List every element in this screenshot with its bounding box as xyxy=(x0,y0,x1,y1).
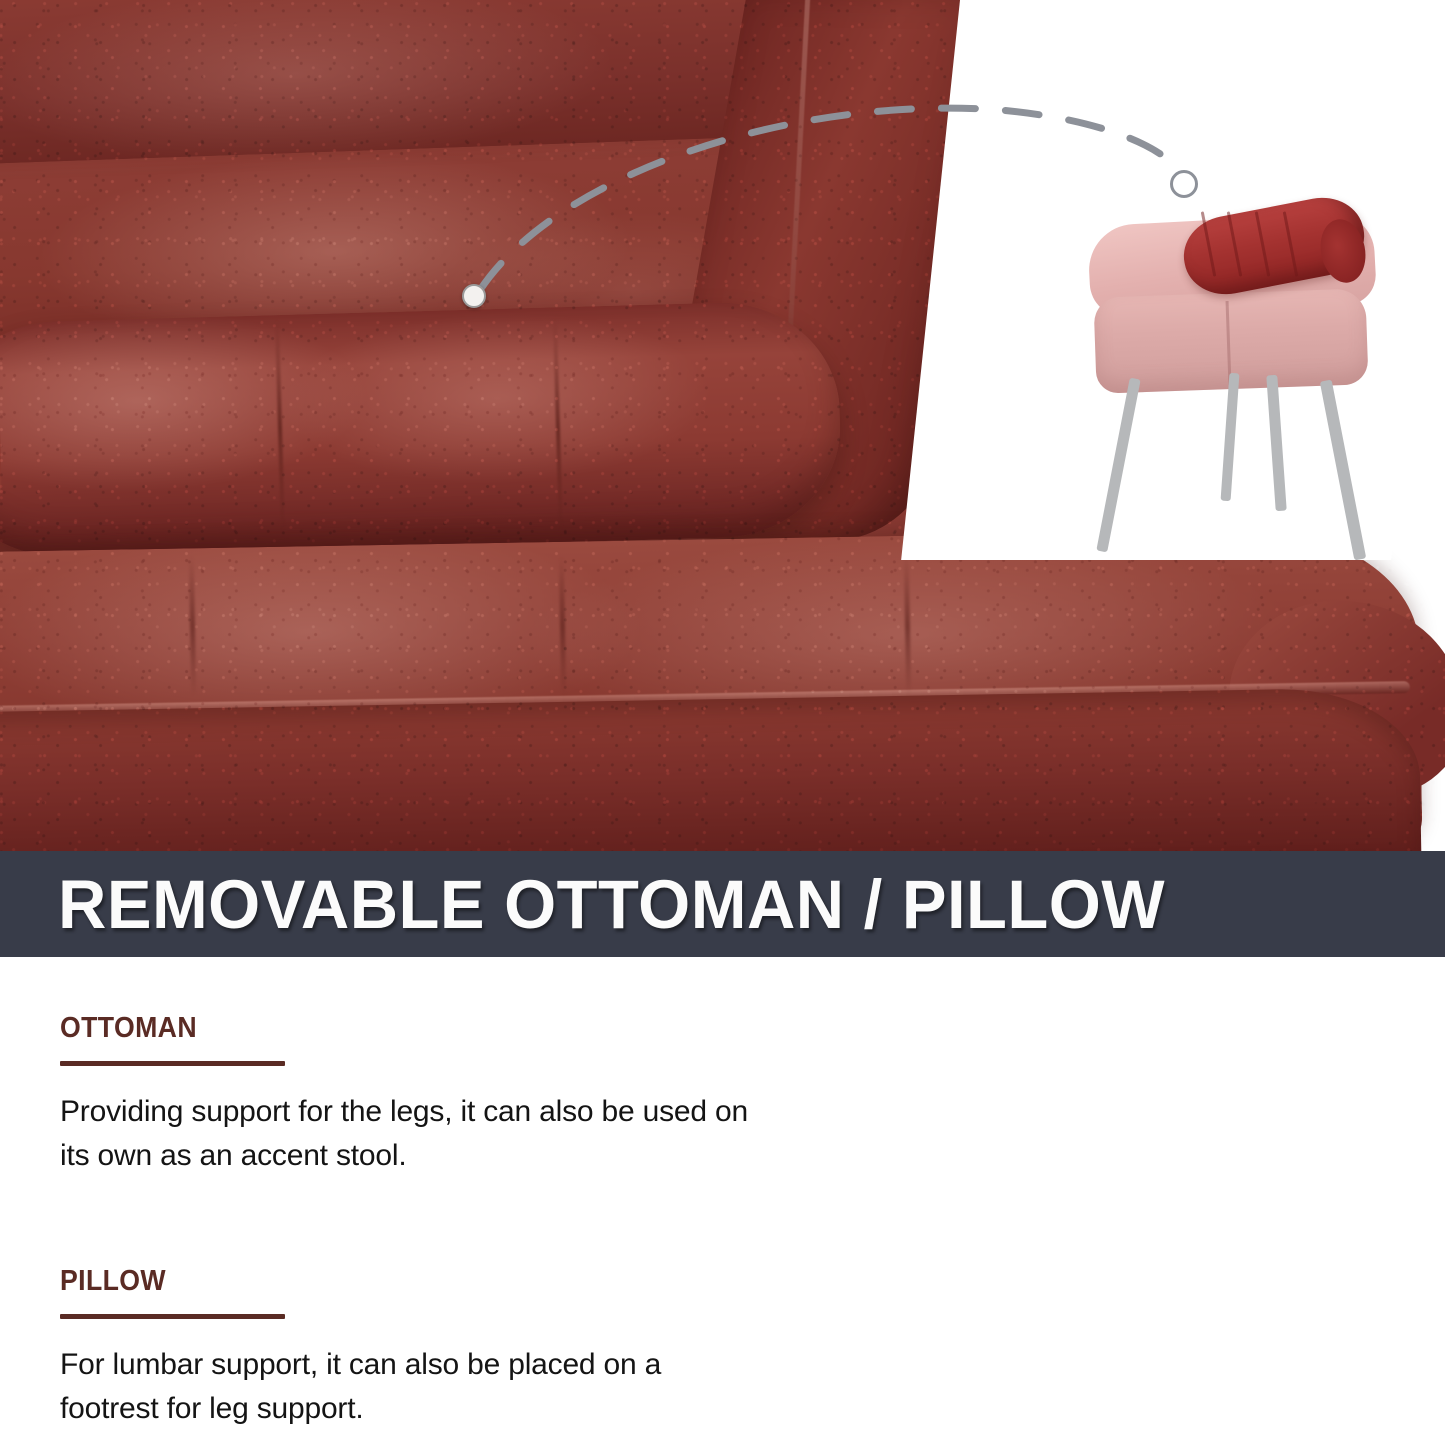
headline-banner: REMOVABLE OTTOMAN / PILLOW xyxy=(0,851,1445,957)
feature-list: OTTOMAN Providing support for the legs, … xyxy=(60,1012,760,1445)
feature-underline xyxy=(60,1314,285,1319)
feature-body-ottoman: Providing support for the legs, it can a… xyxy=(60,1090,760,1179)
dashed-arc-path xyxy=(480,108,1180,290)
feature-title-pillow: PILLOW xyxy=(60,1265,704,1298)
feature-title-ottoman: OTTOMAN xyxy=(60,1012,704,1045)
hero-sofa-photo xyxy=(0,0,1445,851)
details-section: OTTOMAN Providing support for the legs, … xyxy=(0,957,1445,1445)
callout-arc xyxy=(0,0,1445,851)
feature-block-ottoman: OTTOMAN Providing support for the legs, … xyxy=(60,1012,760,1179)
marketing-image: REMOVABLE OTTOMAN / PILLOW OTTOMAN Provi… xyxy=(0,0,1445,1445)
headline-text: REMOVABLE OTTOMAN / PILLOW xyxy=(58,870,1165,939)
feature-block-pillow: PILLOW For lumbar support, it can also b… xyxy=(60,1265,760,1432)
feature-underline xyxy=(60,1061,285,1066)
feature-body-pillow: For lumbar support, it can also be place… xyxy=(60,1343,760,1432)
callout-start-dot xyxy=(462,284,486,308)
callout-end-ring xyxy=(1170,170,1198,198)
